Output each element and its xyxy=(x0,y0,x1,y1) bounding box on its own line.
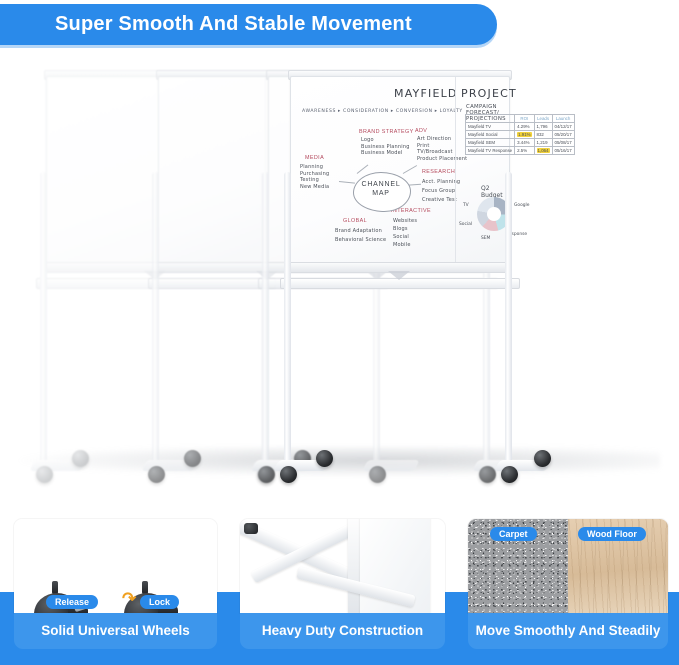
caster-wheel xyxy=(501,466,518,483)
caster-wheel xyxy=(316,450,333,467)
branch-items-global: Brand Adaptation Behavioral Science xyxy=(335,227,386,245)
whiteboard-funnel: AWARENESS ▸ CONSIDERATION ▸ CONVERSION ▸… xyxy=(302,109,463,114)
feature-caption-floors: Move Smoothly And Steadily xyxy=(468,613,668,649)
left-upright xyxy=(284,172,291,472)
pill-release: Release xyxy=(46,595,98,609)
table-row: Mayfield TV 4.29% 1,796 04/12/17 xyxy=(466,123,575,131)
caster-wheel xyxy=(534,450,551,467)
donut-label-sem: SEM xyxy=(481,236,490,241)
whiteboard-surface: MAYFIELD AWARENESS ▸ CONSIDERATION ▸ CON… xyxy=(290,76,510,268)
donut-label-tv: TV xyxy=(463,203,469,208)
caster-wheel xyxy=(280,466,297,483)
floors-photo: Carpet Wood Floor xyxy=(468,519,668,613)
branch-label-adv: ADV xyxy=(415,128,427,134)
feature-card-wheels: ↷ Release Lock Solid Universal Wheels xyxy=(14,519,217,649)
construction-photo xyxy=(240,519,445,613)
right-upright xyxy=(505,172,512,472)
branch-label-media: MEDIA xyxy=(305,155,324,161)
branch-label-research: RESEARCH xyxy=(422,169,455,175)
lock-rotation-arrow: ↷ xyxy=(122,589,136,609)
branch-items-media: Planning Purchasing Testing New Media xyxy=(300,164,329,190)
whiteboard-cart: MAYFIELD AWARENESS ▸ CONSIDERATION ▸ CON… xyxy=(272,52,522,492)
pill-carpet: Carpet xyxy=(490,527,537,541)
page-title: Super Smooth And Stable Movement xyxy=(55,4,412,45)
pill-lock: Lock xyxy=(140,595,179,609)
forecast-table: ROI Leads Launch Mayfield TV 4.29% 1,796… xyxy=(465,114,575,155)
donut-label-social: Social xyxy=(459,222,472,227)
wheels-photo: ↷ Release Lock xyxy=(14,519,217,613)
mindmap-center-label: CHANNEL MAP xyxy=(353,180,409,198)
feature-card-construction: Heavy Duty Construction xyxy=(240,519,445,649)
donut-label-google: Google xyxy=(514,203,529,208)
branch-items-adv: Art Direction Print TV/Broadcast Product… xyxy=(417,136,467,162)
whiteboard-left-title: MAYFIELD xyxy=(394,87,458,100)
feature-caption-construction: Heavy Duty Construction xyxy=(240,613,445,649)
hero-product-stage: MAYFIELD AWARENESS ▸ CONSIDERATION ▸ CON… xyxy=(0,52,679,492)
branch-items-brand-strategy: Logo Business Planning Business Model xyxy=(361,137,410,157)
table-header-row: ROI Leads Launch xyxy=(466,115,575,123)
pill-wood-floor: Wood Floor xyxy=(578,527,646,541)
branch-label-global: GLOBAL xyxy=(343,218,367,224)
table-row: Mayfield TV Response 2.5% 1,064 05/16/17 xyxy=(466,147,575,155)
table-row: Mayfield Social 1.91% 832 05/20/17 xyxy=(466,131,575,139)
feature-card-floors: Carpet Wood Floor Move Smoothly And Stea… xyxy=(468,519,668,649)
header-banner: Super Smooth And Stable Movement xyxy=(0,4,497,45)
whiteboard-right-title: PROJECT xyxy=(461,87,517,100)
table-row: Mayfield SEM 3.44% 1,219 05/08/17 xyxy=(466,139,575,147)
branch-label-brand-strategy: BRAND STRATEGY xyxy=(359,129,414,135)
branch-items-interactive: Websites Blogs Social Mobile xyxy=(393,217,417,249)
feature-caption-wheels: Solid Universal Wheels xyxy=(14,613,217,649)
